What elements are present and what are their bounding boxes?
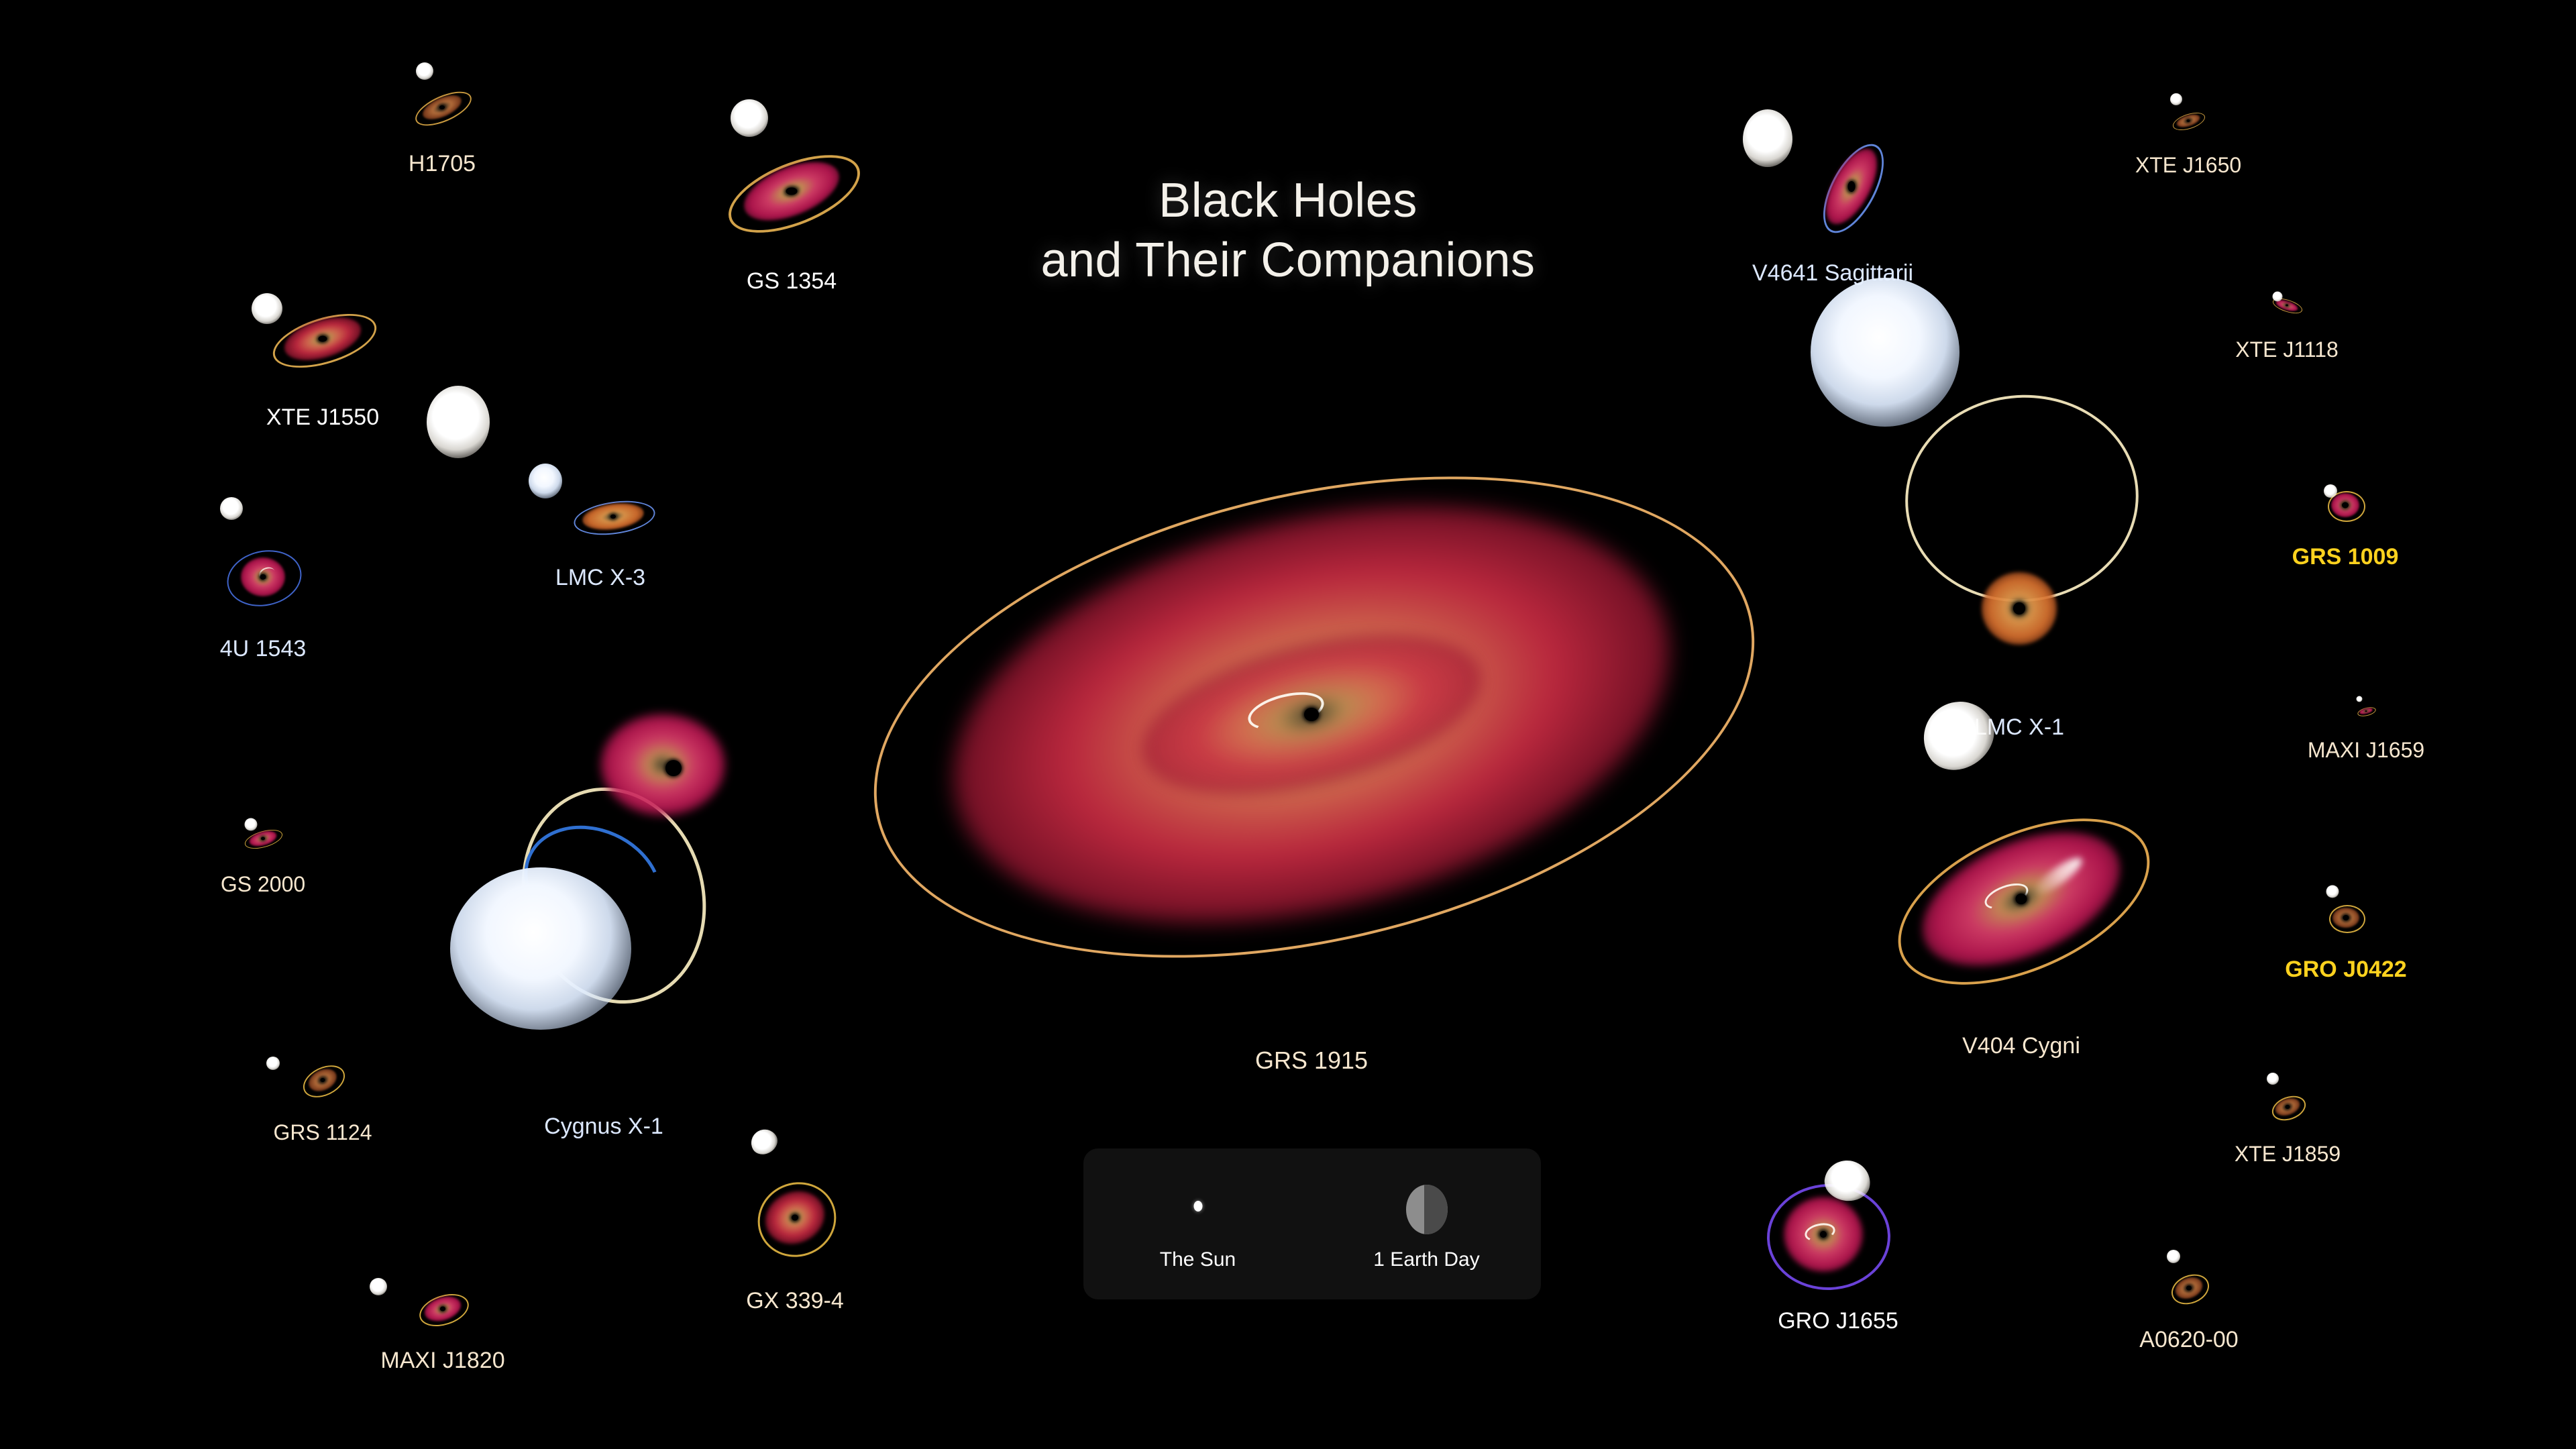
system-label: 4U 1543 <box>220 636 307 662</box>
binary-art <box>1885 399 2153 667</box>
system-label: XTE J1550 <box>266 405 379 431</box>
title-line-2: and Their Companions <box>0 231 2576 290</box>
system-label: V404 Cygni <box>1962 1033 2080 1059</box>
companion-star <box>2267 1073 2279 1085</box>
binary-art <box>402 1285 483 1332</box>
scale-legend-panel: The Sun 1 Earth Day <box>1083 1148 1541 1299</box>
binary-art <box>2261 1088 2314 1126</box>
system-label: MAXI J1820 <box>380 1348 504 1374</box>
system-label: H1705 <box>409 151 476 177</box>
black-hole <box>261 837 265 841</box>
black-hole <box>2286 305 2288 307</box>
black-hole <box>2016 894 2027 904</box>
earth-day-disc-icon <box>1406 1185 1448 1234</box>
black-hole <box>1304 708 1319 721</box>
companion-star <box>1811 278 1960 427</box>
companion-star <box>450 867 631 1030</box>
black-hole <box>786 188 798 195</box>
title-line-1: Black Holes <box>1159 174 1417 227</box>
system-label: XTE J1859 <box>2235 1142 2341 1167</box>
binary-art <box>1764 1181 1912 1288</box>
binary-art <box>402 80 482 134</box>
system-label: GS 1354 <box>747 268 837 294</box>
black-hole <box>2286 1105 2290 1109</box>
legend-earth-day-label: 1 Earth Day <box>1373 1248 1479 1271</box>
black-hole <box>440 1307 445 1311</box>
binary-art <box>289 1057 356 1104</box>
black-hole <box>321 1078 325 1082</box>
companion-star <box>529 464 562 498</box>
companion-star <box>747 1124 782 1159</box>
system-label: XTE J1650 <box>2135 153 2241 178</box>
black-hole-poster: Black Holes and Their Companions H1705 G… <box>0 0 2576 1449</box>
legend-item-sun: The Sun <box>1083 1148 1312 1299</box>
system-label: GS 2000 <box>221 872 305 897</box>
companion-star <box>2273 292 2283 302</box>
black-hole <box>665 760 682 776</box>
companion-star <box>252 293 282 324</box>
companion-star <box>2170 93 2182 105</box>
binary-art <box>2159 1267 2219 1309</box>
binary-art <box>547 486 654 547</box>
companion-star <box>1743 109 1792 167</box>
black-hole <box>2365 710 2367 712</box>
legend-sun-label: The Sun <box>1160 1248 1236 1271</box>
black-hole <box>792 1215 798 1221</box>
accretion-disk <box>600 714 725 816</box>
sun-dot-icon <box>1193 1201 1202 1212</box>
binary-art <box>2320 898 2372 938</box>
black-hole <box>2343 915 2349 920</box>
companion-star <box>2326 885 2339 898</box>
system-label: GRS 1124 <box>273 1120 372 1145</box>
binary-art <box>2263 290 2310 320</box>
legend-item-earth-day: 1 Earth Day <box>1312 1148 1541 1299</box>
system-label: GRO J1655 <box>1778 1308 1898 1334</box>
system-label: GRS 1915 <box>1255 1046 1368 1075</box>
binary-art <box>2351 701 2381 721</box>
system-label: GX 339-4 <box>746 1288 844 1314</box>
black-hole <box>2186 1286 2192 1291</box>
binary-art <box>735 1167 855 1268</box>
companion-star <box>731 99 768 137</box>
companion-star <box>2324 484 2337 498</box>
black-hole <box>1847 181 1855 192</box>
black-hole <box>439 105 445 109</box>
binary-art <box>2318 482 2372 529</box>
system-label: MAXI J1659 <box>2308 738 2424 763</box>
black-hole <box>1820 1231 1827 1238</box>
black-hole <box>319 336 327 342</box>
companion-star <box>1910 688 2007 784</box>
black-hole <box>2187 119 2190 122</box>
system-label: LMC X-3 <box>555 565 645 591</box>
companion-star <box>427 386 490 458</box>
binary-art <box>2161 104 2215 138</box>
binary-art <box>1756 133 1910 240</box>
binary-art <box>1880 792 2162 1006</box>
system-label: Cygnus X-1 <box>544 1114 663 1140</box>
system-label: A0620-00 <box>2139 1327 2238 1353</box>
black-hole <box>2342 502 2349 508</box>
companion-star <box>266 1057 280 1070</box>
earth-day-disc-dark-half <box>1424 1185 1447 1234</box>
black-hole <box>260 574 266 580</box>
system-label: GRO J0422 <box>2285 957 2406 983</box>
companion-star <box>416 62 433 80</box>
binary-art <box>233 822 293 855</box>
companion-star <box>220 497 243 520</box>
binary-art <box>714 141 869 241</box>
binary-art <box>213 530 313 624</box>
black-hole <box>610 515 616 519</box>
black-hole <box>2013 602 2025 614</box>
binary-art <box>842 446 1781 983</box>
companion-star <box>2357 696 2363 702</box>
companion-star <box>245 818 258 831</box>
binary-art <box>259 295 386 382</box>
binary-art <box>429 704 778 1080</box>
page-title: Black Holes and Their Companions <box>0 171 2576 291</box>
system-label: GRS 1009 <box>2292 544 2399 570</box>
companion-star <box>2167 1250 2180 1263</box>
system-label: XTE J1118 <box>2235 337 2339 362</box>
companion-star <box>370 1278 387 1295</box>
